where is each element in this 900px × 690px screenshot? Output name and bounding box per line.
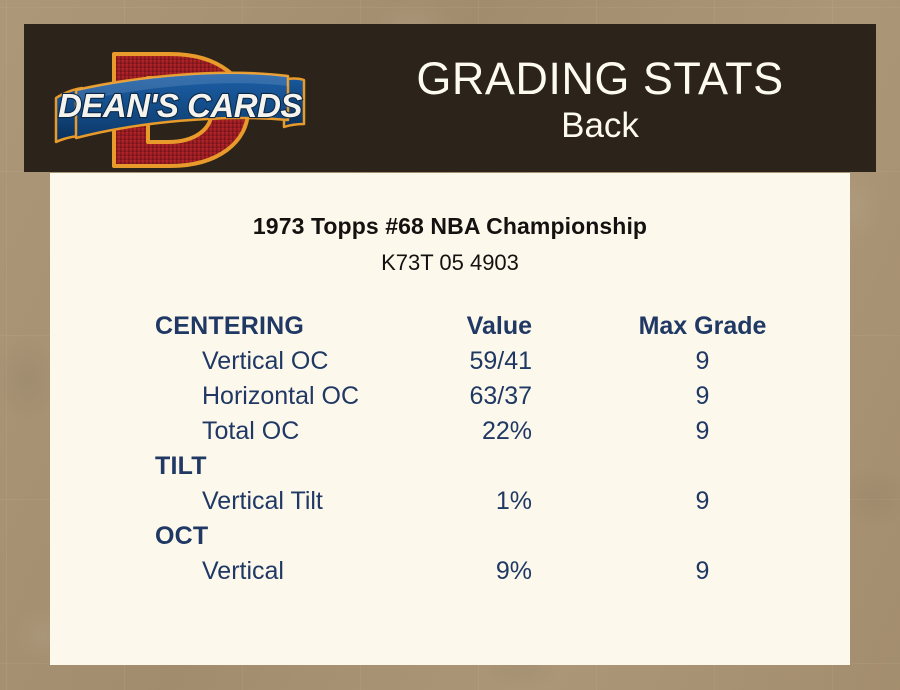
grading-stats-table: CENTERING Value Max Grade Vertical OC 59… xyxy=(50,309,850,589)
section-label: OCT xyxy=(50,519,850,554)
table-row: Total OC 22% 9 xyxy=(50,414,850,449)
section-label: TILT xyxy=(50,449,850,484)
row-grade: 9 xyxy=(610,344,850,379)
row-grade: 9 xyxy=(610,414,850,449)
row-grade: 9 xyxy=(610,379,850,414)
header-bar: DEAN'S CARDS GRADING STATS Back xyxy=(24,24,876,172)
column-header-max-grade: Max Grade xyxy=(610,309,850,344)
section-header-tilt: TILT xyxy=(50,449,850,484)
row-value: 1% xyxy=(445,484,610,519)
table-row: Vertical Tilt 1% 9 xyxy=(50,484,850,519)
row-grade: 9 xyxy=(610,554,850,589)
table-row: Vertical OC 59/41 9 xyxy=(50,344,850,379)
section-header-oct: OCT xyxy=(50,519,850,554)
row-value: 59/41 xyxy=(445,344,610,379)
row-grade: 9 xyxy=(610,484,850,519)
card-title: 1973 Topps #68 NBA Championship xyxy=(50,213,850,240)
row-label: Vertical OC xyxy=(50,344,445,379)
row-value: 9% xyxy=(445,554,610,589)
table-row: Vertical 9% 9 xyxy=(50,554,850,589)
row-value: 22% xyxy=(445,414,610,449)
page-title: GRADING STATS xyxy=(416,56,783,103)
logo-ribbon: DEAN'S CARDS xyxy=(56,73,304,142)
row-label: Vertical Tilt xyxy=(50,484,445,519)
logo-ribbon-text: DEAN'S CARDS xyxy=(58,87,302,124)
row-label: Horizontal OC xyxy=(50,379,445,414)
table-body: Vertical OC 59/41 9 Horizontal OC 63/37 … xyxy=(50,344,850,589)
content-panel: 1973 Topps #68 NBA Championship K73T 05 … xyxy=(50,173,850,665)
table-header-row: CENTERING Value Max Grade xyxy=(50,309,850,344)
header-title-block: GRADING STATS Back xyxy=(324,24,876,172)
card-id: K73T 05 4903 xyxy=(50,250,850,276)
page-subtitle: Back xyxy=(561,105,639,146)
table-row: Horizontal OC 63/37 9 xyxy=(50,379,850,414)
column-header-centering: CENTERING xyxy=(50,309,445,344)
row-label: Vertical xyxy=(50,554,445,589)
column-header-value: Value xyxy=(445,309,610,344)
row-value: 63/37 xyxy=(445,379,610,414)
row-label: Total OC xyxy=(50,414,445,449)
deans-cards-logo[interactable]: DEAN'S CARDS xyxy=(52,24,312,172)
